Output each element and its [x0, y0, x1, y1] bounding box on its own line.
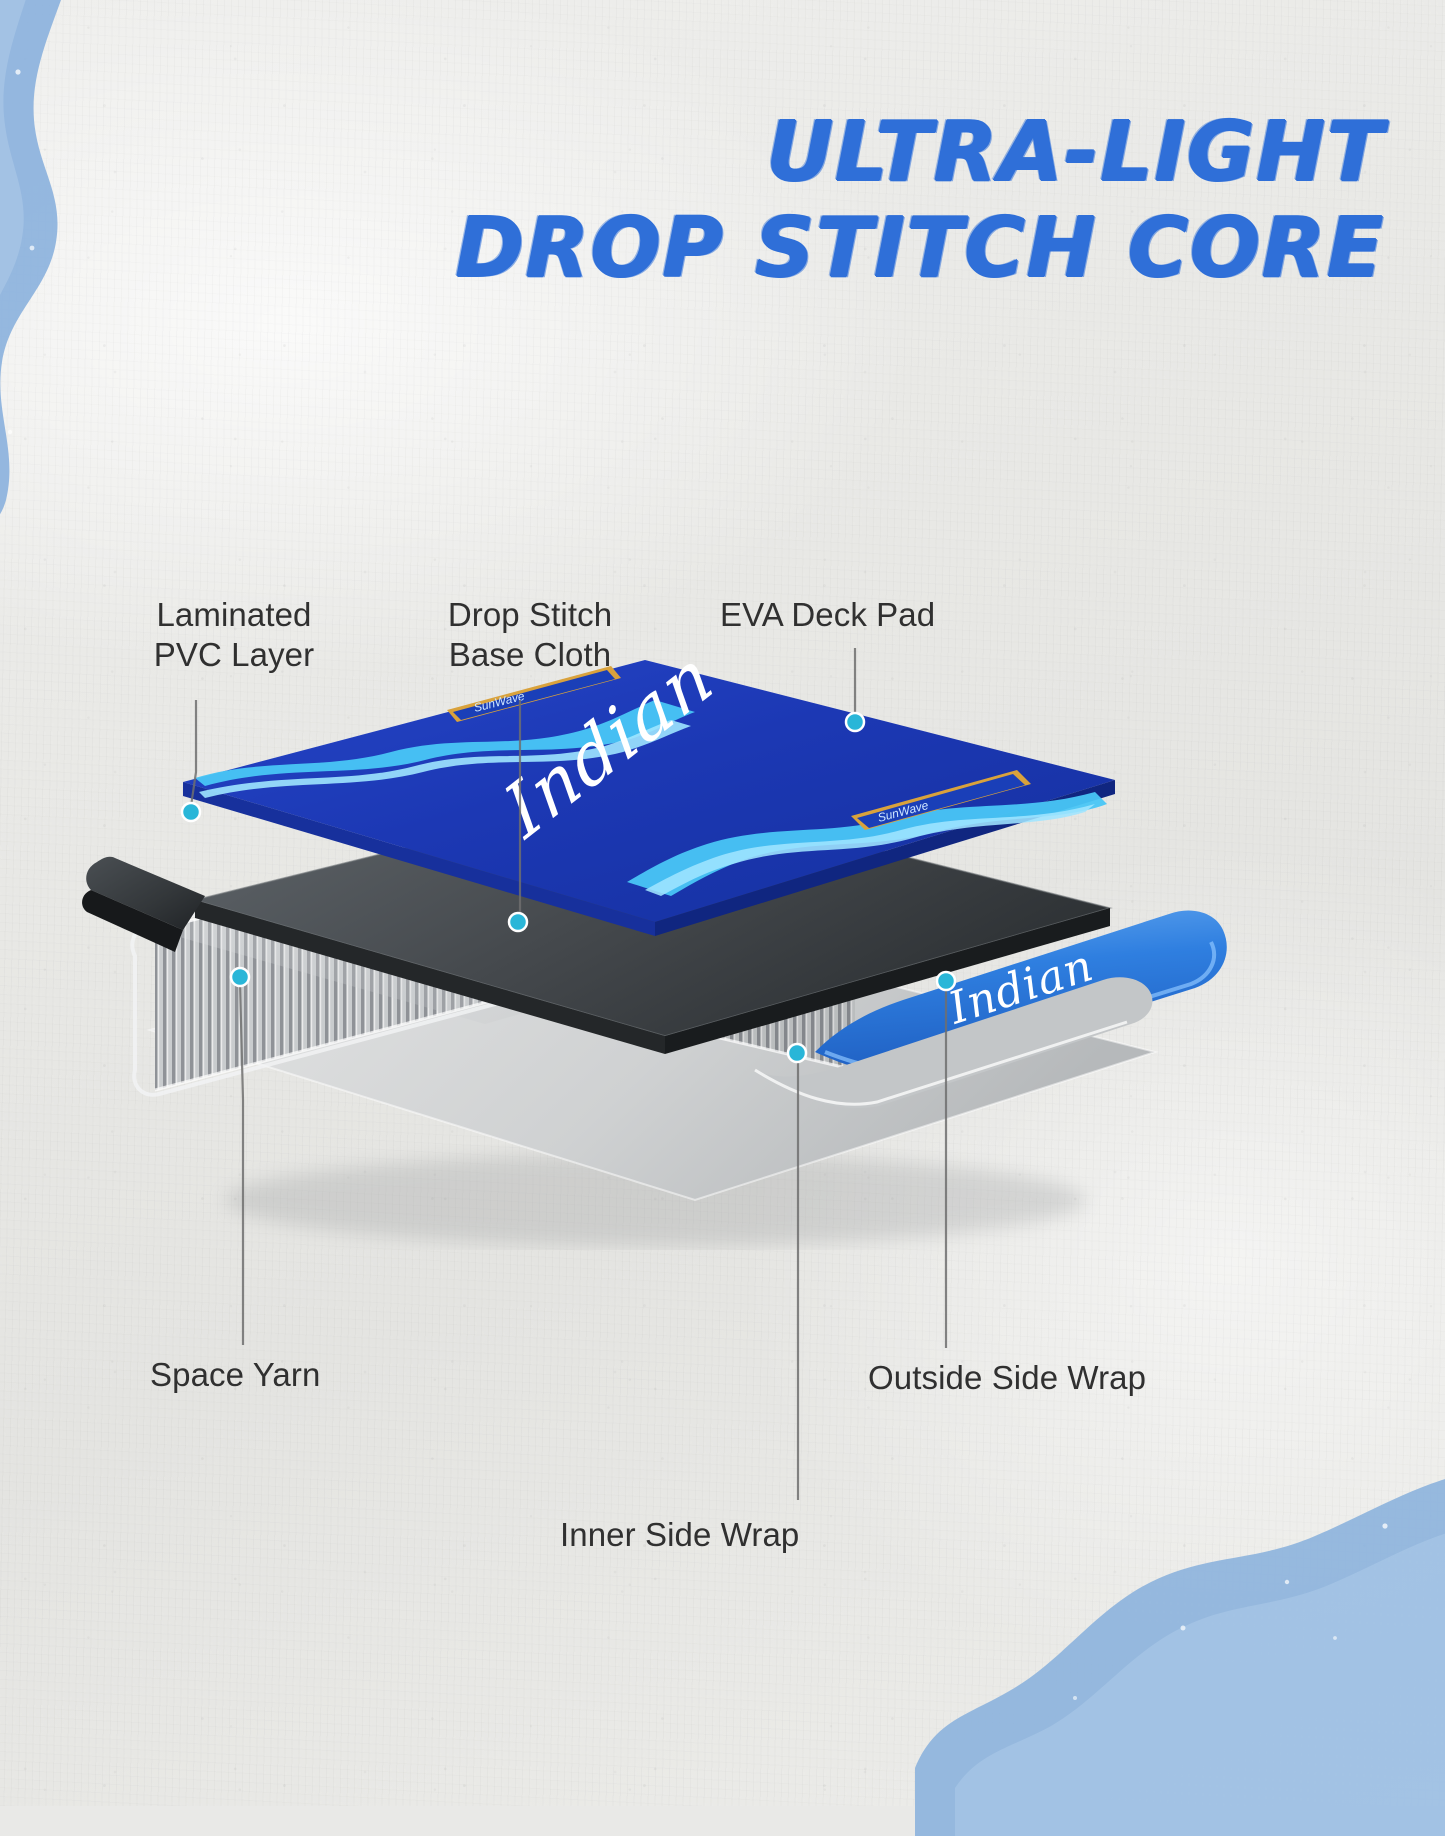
callout-label-laminated-pvc-layer: Laminated PVC Layer: [104, 595, 364, 674]
callout-label-outside-side-wrap: Outside Side Wrap: [868, 1358, 1228, 1398]
callout-label-inner-side-wrap: Inner Side Wrap: [560, 1515, 900, 1555]
title-line-2: DROP STITCH CORE: [0, 208, 1385, 290]
page-title: ULTRA-LIGHT DROP STITCH CORE: [0, 112, 1385, 290]
callout-label-space-yarn: Space Yarn: [150, 1355, 450, 1395]
callout-label-drop-stitch-base-cloth: Drop Stitch Base Cloth: [400, 595, 660, 674]
title-line-1: ULTRA-LIGHT: [0, 112, 1385, 194]
callout-label-eva-deck-pad: EVA Deck Pad: [720, 595, 1020, 635]
product-exploded-diagram: SunWave SunWave Indian Indian: [55, 600, 1285, 1250]
